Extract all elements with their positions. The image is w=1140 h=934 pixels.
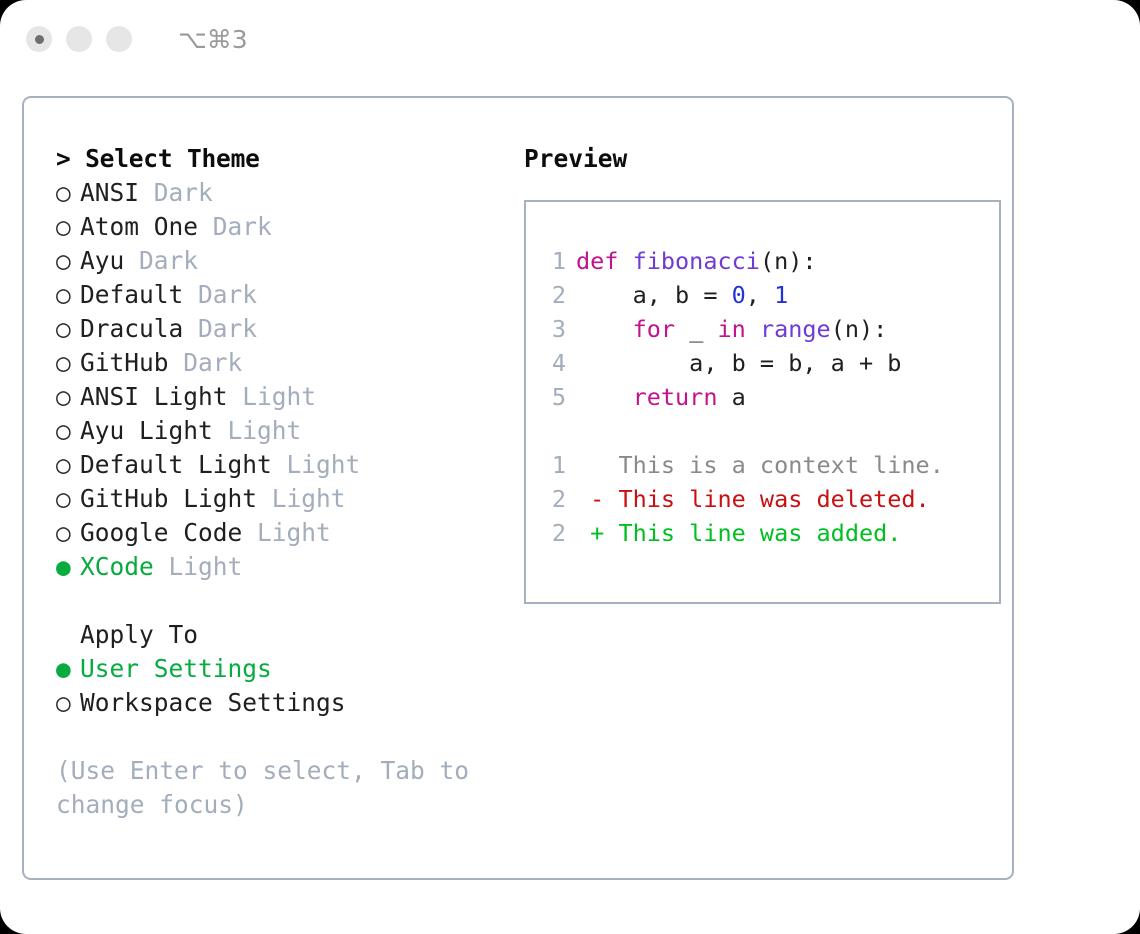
app-window: ⌥⌘3 > Select Theme ○ANSI Dark○Atom One D…: [0, 0, 1140, 934]
theme-option-ansi[interactable]: ○ANSI Dark: [56, 176, 502, 210]
theme-kind-badge: Light: [272, 450, 361, 479]
theme-option-ansi-light[interactable]: ○ANSI Light Light: [56, 380, 502, 414]
theme-name: Dracula: [80, 314, 183, 343]
theme-option-default[interactable]: ○Default Dark: [56, 278, 502, 312]
code-token: for: [633, 315, 675, 343]
theme-kind-badge: Light: [257, 484, 346, 513]
code-token: 1: [774, 281, 788, 309]
radio-unselected-icon: ○: [56, 482, 80, 516]
diff-line: 1 This is a context line.: [540, 448, 999, 482]
theme-name: Atom One: [80, 212, 198, 241]
preview-column: Preview 1def fibonacci(n):2 a, b = 0, 13…: [502, 142, 1012, 878]
window-dot-three-icon[interactable]: [106, 26, 132, 52]
apply-to-option-user-settings[interactable]: ●User Settings: [56, 652, 502, 686]
code-token: def: [576, 247, 633, 275]
radio-unselected-icon: ○: [56, 312, 80, 346]
code-line: 5 return a: [540, 380, 999, 414]
title-bar: ⌥⌘3: [0, 0, 1140, 78]
theme-option-atom-one[interactable]: ○Atom One Dark: [56, 210, 502, 244]
theme-kind-badge: Light: [242, 518, 331, 547]
theme-name: GitHub Light: [80, 484, 257, 513]
diff-text: + This line was added.: [576, 519, 901, 547]
code-token: a: [717, 383, 745, 411]
code-line: 4 a, b = b, a + b: [540, 346, 999, 380]
code-token: _: [675, 315, 717, 343]
preview-heading: Preview: [524, 142, 1012, 176]
line-number: 3: [540, 312, 566, 346]
code-token: 0: [732, 281, 746, 309]
diff-sample: 1 This is a context line.2 - This line w…: [540, 448, 999, 550]
code-token: [746, 315, 760, 343]
line-number: 5: [540, 380, 566, 414]
code-token: ,: [746, 281, 774, 309]
radio-selected-icon: ●: [56, 550, 80, 584]
theme-kind-badge: Dark: [198, 212, 272, 241]
apply-to-label: Workspace Settings: [80, 688, 346, 717]
theme-kind-badge: Light: [154, 552, 243, 581]
theme-name: ANSI: [80, 178, 139, 207]
line-number: 1: [540, 244, 566, 278]
radio-unselected-icon: ○: [56, 176, 80, 210]
theme-option-default-light[interactable]: ○Default Light Light: [56, 448, 502, 482]
code-sample: 1def fibonacci(n):2 a, b = 0, 13 for _ i…: [540, 244, 999, 414]
code-preview-box: 1def fibonacci(n):2 a, b = 0, 13 for _ i…: [524, 200, 1001, 604]
diff-line: 2 - This line was deleted.: [540, 482, 999, 516]
theme-option-github[interactable]: ○GitHub Dark: [56, 346, 502, 380]
line-number: 2: [540, 482, 566, 516]
line-number: 2: [540, 278, 566, 312]
diff-line: 2 + This line was added.: [540, 516, 999, 550]
radio-unselected-icon: ○: [56, 414, 80, 448]
code-token: fibonacci: [633, 247, 760, 275]
line-number: 1: [540, 448, 566, 482]
select-theme-heading: > Select Theme: [56, 142, 502, 176]
theme-kind-badge: Dark: [183, 314, 257, 343]
code-diff-spacer: [540, 414, 999, 448]
line-number: 2: [540, 516, 566, 550]
code-token: return: [633, 383, 718, 411]
theme-kind-badge: Dark: [183, 280, 257, 309]
apply-to-heading: Apply To: [56, 618, 502, 652]
theme-option-ayu-light[interactable]: ○Ayu Light Light: [56, 414, 502, 448]
code-token: [576, 383, 633, 411]
code-token: (n):: [760, 247, 817, 275]
code-token: range: [760, 315, 831, 343]
radio-unselected-icon: ○: [56, 516, 80, 550]
radio-unselected-icon: ○: [56, 686, 80, 720]
theme-option-ayu[interactable]: ○Ayu Dark: [56, 244, 502, 278]
radio-unselected-icon: ○: [56, 346, 80, 380]
keyboard-hint: (Use Enter to select, Tab to change focu…: [56, 754, 476, 822]
radio-unselected-icon: ○: [56, 278, 80, 312]
theme-kind-badge: Dark: [139, 178, 213, 207]
apply-to-option-workspace-settings[interactable]: ○Workspace Settings: [56, 686, 502, 720]
code-token: [576, 315, 633, 343]
code-token: a, b =: [576, 281, 732, 309]
theme-kind-badge: Dark: [169, 348, 243, 377]
theme-kind-badge: Dark: [124, 246, 198, 275]
code-token: a, b = b, a + b: [576, 349, 901, 377]
theme-name: Ayu Light: [80, 416, 213, 445]
theme-name: Default: [80, 280, 183, 309]
theme-kind-badge: Light: [213, 416, 302, 445]
code-token: in: [718, 315, 746, 343]
radio-unselected-icon: ○: [56, 244, 80, 278]
theme-option-dracula[interactable]: ○Dracula Dark: [56, 312, 502, 346]
window-controls: [26, 26, 132, 52]
theme-kind-badge: Light: [228, 382, 317, 411]
line-number: 4: [540, 346, 566, 380]
window-dot-two-icon[interactable]: [66, 26, 92, 52]
theme-option-github-light[interactable]: ○GitHub Light Light: [56, 482, 502, 516]
theme-selector-column: > Select Theme ○ANSI Dark○Atom One Dark○…: [40, 142, 502, 878]
radio-unselected-icon: ○: [56, 380, 80, 414]
apply-to-label: User Settings: [80, 654, 272, 683]
diff-text: This is a context line.: [576, 451, 944, 479]
theme-name: Default Light: [80, 450, 272, 479]
theme-list: ○ANSI Dark○Atom One Dark○Ayu Dark○Defaul…: [56, 176, 502, 584]
apply-to-heading-label: Apply To: [80, 620, 198, 649]
apply-to-list: ●User Settings○Workspace Settings: [56, 652, 502, 720]
code-token: (n):: [831, 315, 888, 343]
radio-unselected-icon: ○: [56, 448, 80, 482]
radio-unselected-icon: ○: [56, 210, 80, 244]
screen-root: ⌥⌘3 > Select Theme ○ANSI Dark○Atom One D…: [0, 0, 1140, 934]
radio-selected-icon: ●: [56, 652, 80, 686]
keyboard-shortcut-label: ⌥⌘3: [178, 25, 248, 54]
theme-name: Google Code: [80, 518, 242, 547]
theme-name: GitHub: [80, 348, 169, 377]
theme-option-xcode[interactable]: ●XCode Light: [56, 550, 502, 584]
window-dot-active-icon[interactable]: [26, 26, 52, 52]
window-dot-active-inner: [35, 35, 44, 44]
code-line: 3 for _ in range(n):: [540, 312, 999, 346]
apply-to-indent: [56, 618, 80, 652]
diff-text: - This line was deleted.: [576, 485, 930, 513]
code-line: 2 a, b = 0, 1: [540, 278, 999, 312]
theme-name: XCode: [80, 552, 154, 581]
code-line: 1def fibonacci(n):: [540, 244, 999, 278]
main-panel: > Select Theme ○ANSI Dark○Atom One Dark○…: [22, 96, 1014, 880]
theme-option-google-code[interactable]: ○Google Code Light: [56, 516, 502, 550]
list-spacer: [56, 584, 502, 618]
theme-name: ANSI Light: [80, 382, 228, 411]
theme-name: Ayu: [80, 246, 124, 275]
